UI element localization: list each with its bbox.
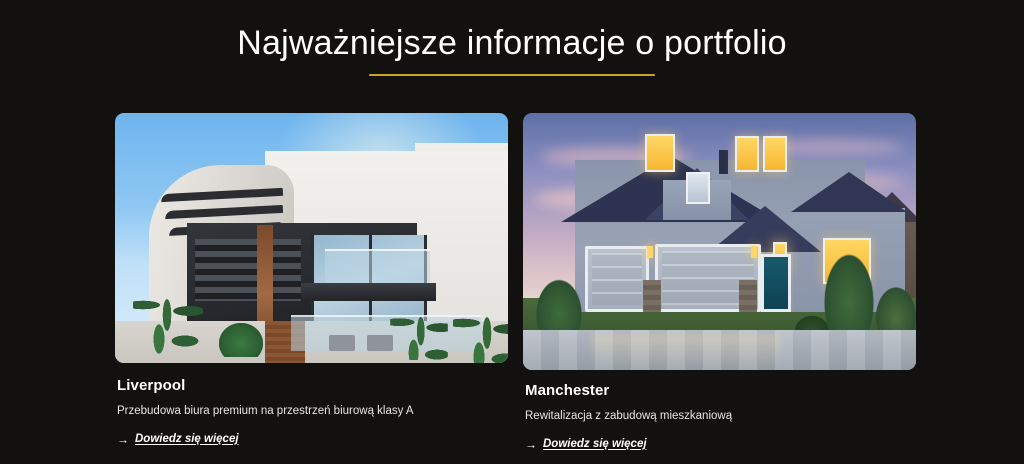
glass-balustrade-upper bbox=[325, 249, 430, 287]
learn-more-label: Dowiedz się więcej bbox=[543, 438, 647, 450]
portfolio-card-body-liverpool: Liverpool Przebudowa biura premium na pr… bbox=[115, 363, 508, 448]
front-door bbox=[761, 254, 791, 312]
upper-window-lit-3 bbox=[763, 136, 787, 172]
portfolio-card-list: Liverpool Przebudowa biura premium na pr… bbox=[115, 113, 910, 453]
stone-pillar-1 bbox=[643, 280, 661, 312]
portfolio-card-manchester[interactable]: Manchester Rewitalizacja z zabudową mies… bbox=[523, 113, 916, 453]
portfolio-card-description: Rewitalizacja z zabudową mieszkaniową bbox=[525, 409, 914, 425]
learn-more-link-liverpool[interactable]: → Dowiedz się więcej bbox=[117, 433, 239, 445]
exterior-lamp-1 bbox=[647, 246, 653, 258]
driveway-light-reflection bbox=[591, 334, 781, 368]
portfolio-card-title: Manchester bbox=[525, 382, 914, 400]
learn-more-label: Dowiedz się więcej bbox=[135, 433, 239, 445]
palm-plant-3 bbox=[453, 305, 508, 363]
section-header: Najważniejsze informacje o portfolio bbox=[0, 0, 1024, 76]
upper-window-lit-2 bbox=[735, 136, 759, 172]
portfolio-card-title: Liverpool bbox=[117, 377, 506, 395]
title-underline-accent bbox=[369, 74, 655, 76]
portfolio-card-body-manchester: Manchester Rewitalizacja z zabudową mies… bbox=[523, 370, 916, 453]
page-title: Najważniejsze informacje o portfolio bbox=[0, 0, 1024, 65]
attic-window bbox=[686, 172, 710, 204]
arrow-right-icon: → bbox=[117, 433, 129, 445]
exterior-lamp-2 bbox=[751, 246, 757, 258]
facade-louvres bbox=[195, 239, 301, 301]
portfolio-card-liverpool[interactable]: Liverpool Przebudowa biura premium na pr… bbox=[115, 113, 508, 448]
portfolio-card-image-manchester bbox=[523, 113, 916, 370]
balcony-slab bbox=[301, 283, 436, 301]
portfolio-card-description: Przebudowa biura premium na przestrzeń b… bbox=[117, 404, 506, 420]
garage-door-panels bbox=[592, 253, 642, 305]
palm-plant-2 bbox=[390, 306, 448, 360]
modern-office-building-image bbox=[115, 113, 508, 363]
upper-window-lit-1 bbox=[645, 134, 675, 172]
terrace-chair-1 bbox=[329, 335, 355, 351]
suburban-house-dusk-image bbox=[523, 113, 916, 370]
chimney bbox=[719, 150, 728, 174]
learn-more-link-manchester[interactable]: → Dowiedz się więcej bbox=[525, 438, 647, 450]
arrow-right-icon: → bbox=[525, 438, 537, 450]
portfolio-highlights-section: Najważniejsze informacje o portfolio bbox=[0, 0, 1024, 464]
shrub bbox=[219, 323, 263, 357]
stone-pillar-2 bbox=[739, 280, 757, 312]
garage-door-single bbox=[585, 246, 649, 312]
palm-plant-1 bbox=[133, 287, 203, 361]
terrace-chair-2 bbox=[367, 335, 393, 351]
portfolio-card-image-liverpool bbox=[115, 113, 508, 363]
